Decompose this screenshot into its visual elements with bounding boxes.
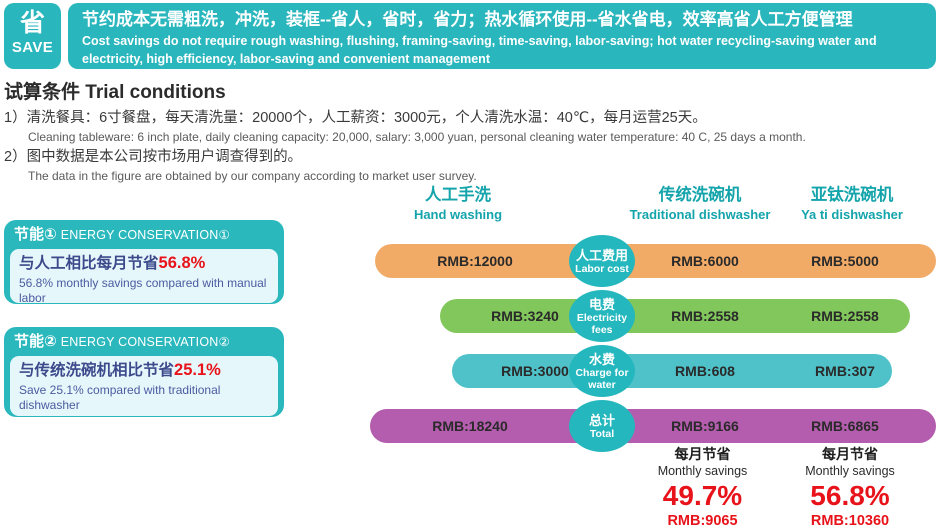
column-header-hand-washing: 人工手洗 Hand washing: [373, 185, 543, 223]
savings-1-cn: 每月节省: [770, 445, 930, 463]
row-badge-2-cn: 水费: [589, 352, 615, 367]
value-electricity-ya-ti: RMB:2558: [780, 299, 910, 333]
value-total-ya-ti: RMB:6865: [780, 409, 910, 443]
value-total-traditional: RMB:9166: [640, 409, 770, 443]
savings-0-en: Monthly savings: [625, 463, 780, 479]
trial-item-1-cn: 1）清洗餐具：6寸餐盘，每天清洗量：20000个，人工薪资：3000元，个人清洗…: [4, 108, 940, 129]
trial-item-2-en: The data in the figure are obtained by o…: [4, 168, 940, 185]
trial-item-2-cn: 2）图中数据是本公司按市场用户调查得到的。: [4, 147, 940, 168]
save-badge: 省 SAVE: [4, 3, 61, 69]
header-message: 节约成本无需粗洗，冲洗，装框--省人，省时，省力；热水循环使用--省水省电，效率…: [68, 3, 936, 69]
value-total-hand-washing: RMB:18240: [380, 409, 560, 443]
trial-conditions-title: 试算条件 Trial conditions: [4, 80, 940, 106]
row-badge-1-cn: 电费: [589, 297, 615, 312]
cost-comparison-chart: 人工手洗 Hand washing 传统洗碗机 Traditional dish…: [0, 185, 940, 518]
trial-conditions: 试算条件 Trial conditions 1）清洗餐具：6寸餐盘，每天清洗量：…: [4, 80, 940, 186]
row-badge-0-en: Labor cost: [575, 263, 629, 275]
column-header-2-en: Ya ti dishwasher: [768, 206, 936, 223]
row-badge-2-en: Charge for water: [569, 367, 635, 391]
trial-condition-item: 1）清洗餐具：6寸餐盘，每天清洗量：20000个，人工薪资：3000元，个人清洗…: [4, 108, 940, 146]
savings-1-percent: 56.8%: [770, 479, 930, 512]
trial-item-1-en: Cleaning tableware: 6 inch plate, daily …: [4, 129, 940, 146]
header-title-en-line1: Cost savings do not require rough washin…: [82, 33, 924, 49]
value-labor-cost-ya-ti: RMB:5000: [780, 244, 910, 278]
row-badge-3-cn: 总计: [589, 413, 615, 428]
save-badge-en: SAVE: [4, 38, 61, 58]
value-water-ya-ti: RMB:307: [780, 354, 910, 388]
trial-condition-item: 2）图中数据是本公司按市场用户调查得到的。 The data in the fi…: [4, 147, 940, 185]
row-badge-3-en: Total: [590, 428, 614, 440]
value-labor-cost-traditional: RMB:6000: [640, 244, 770, 278]
column-header-0-en: Hand washing: [373, 206, 543, 223]
value-labor-cost-hand-washing: RMB:12000: [385, 244, 565, 278]
savings-0-percent: 49.7%: [625, 479, 780, 512]
column-header-ya-ti-dishwasher: 亚钛洗碗机 Ya ti dishwasher: [768, 185, 936, 223]
savings-0-cn: 每月节省: [625, 445, 780, 463]
column-header-2-cn: 亚钛洗碗机: [768, 185, 936, 206]
row-badge-labor-cost: 人工费用 Labor cost: [569, 235, 635, 287]
savings-1-en: Monthly savings: [770, 463, 930, 479]
row-badge-electricity-fees: 电费 Electricity fees: [569, 290, 635, 342]
row-badge-charge-for-water: 水费 Charge for water: [569, 345, 635, 397]
header-banner: 省 SAVE 节约成本无需粗洗，冲洗，装框--省人，省时，省力；热水循环使用--…: [0, 3, 940, 71]
row-badge-0-cn: 人工费用: [576, 248, 628, 263]
monthly-savings-traditional: 每月节省 Monthly savings 49.7% RMB:9065: [625, 445, 780, 531]
row-badge-1-en: Electricity fees: [569, 312, 635, 336]
header-title-en-line2: electricity, high efficiency, labor-savi…: [82, 51, 924, 67]
column-header-1-cn: 传统洗碗机: [610, 185, 790, 206]
savings-1-amount: RMB:10360: [770, 512, 930, 531]
column-header-1-en: Traditional dishwasher: [610, 206, 790, 223]
save-badge-cn: 省: [4, 8, 61, 38]
value-water-traditional: RMB:608: [640, 354, 770, 388]
column-header-traditional-dishwasher: 传统洗碗机 Traditional dishwasher: [610, 185, 790, 223]
savings-0-amount: RMB:9065: [625, 512, 780, 531]
monthly-savings-ya-ti: 每月节省 Monthly savings 56.8% RMB:10360: [770, 445, 930, 531]
header-title-cn: 节约成本无需粗洗，冲洗，装框--省人，省时，省力；热水循环使用--省水省电，效率…: [82, 9, 924, 31]
value-electricity-traditional: RMB:2558: [640, 299, 770, 333]
column-header-0-cn: 人工手洗: [373, 185, 543, 206]
